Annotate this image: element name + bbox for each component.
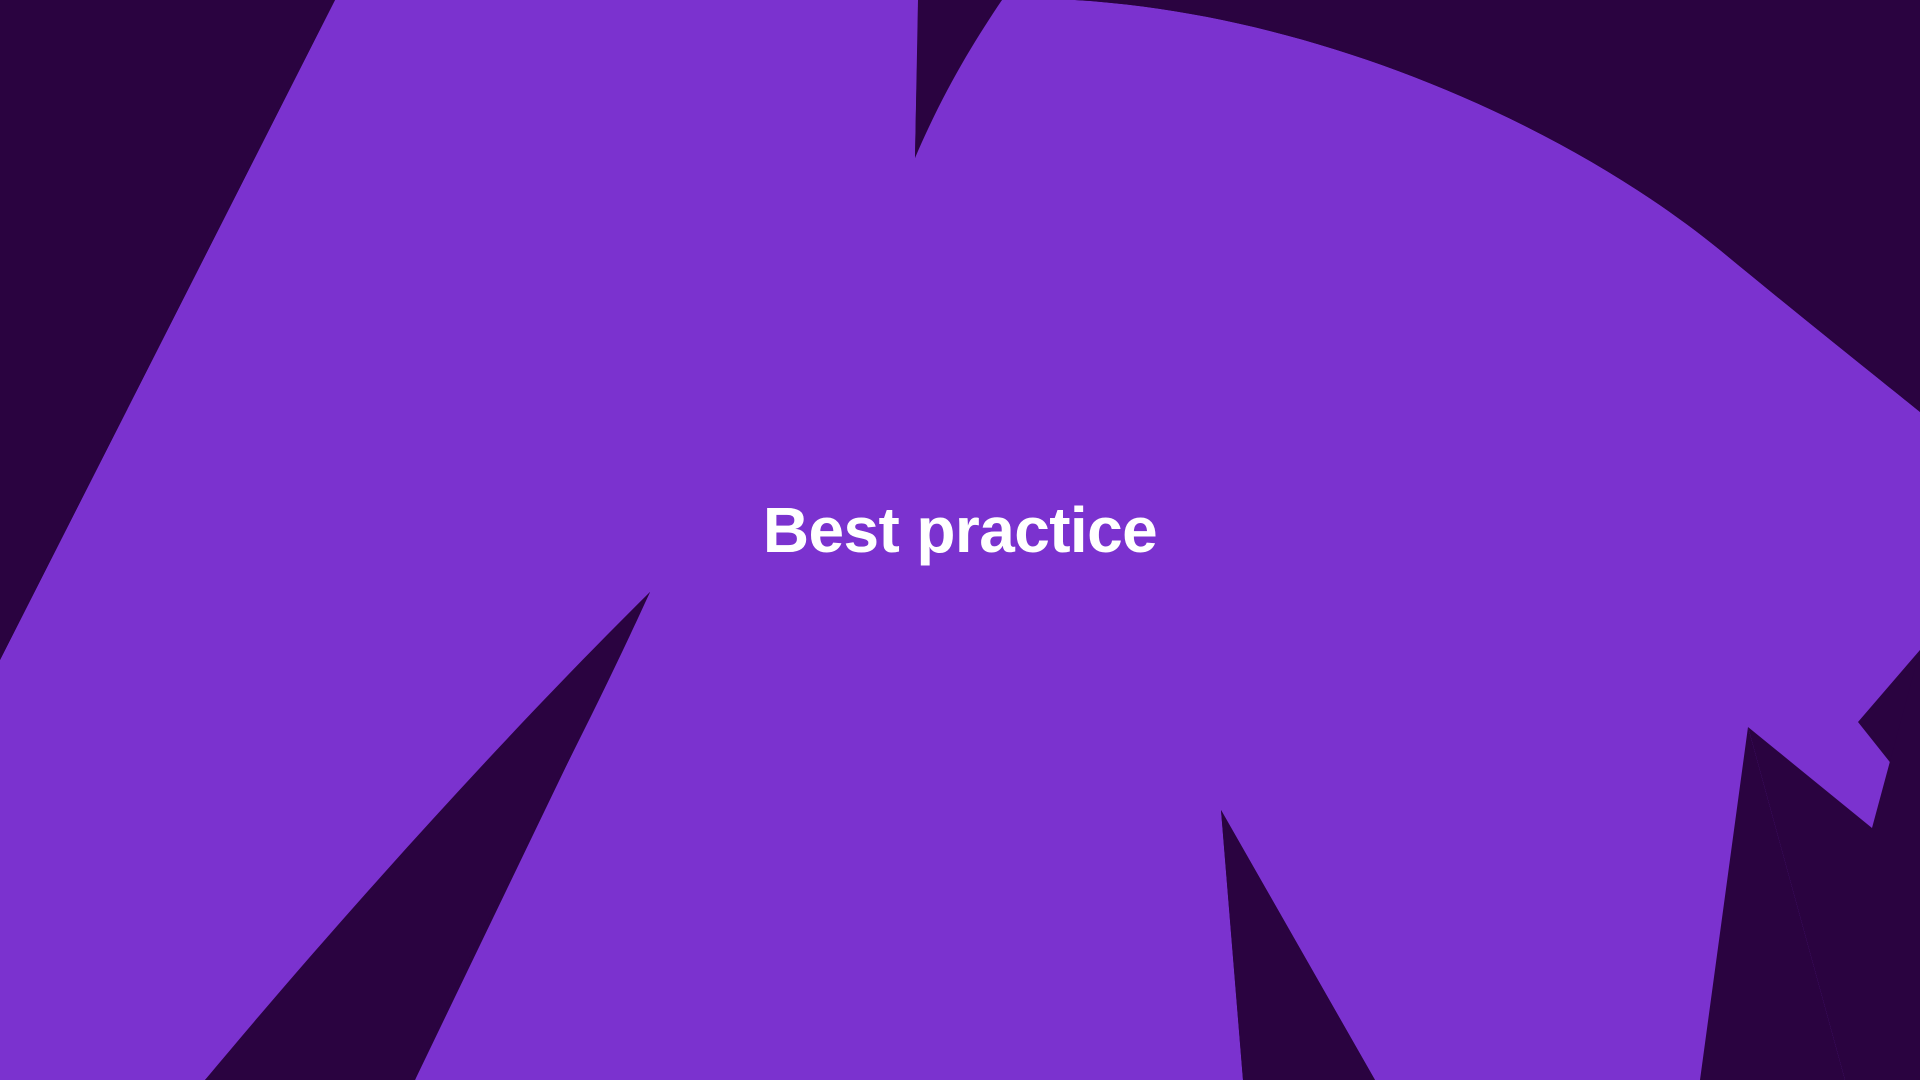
page-title: Best practice [763,497,1157,564]
title-block: Best practice [763,497,1157,564]
slide-canvas: Best practice [0,0,1920,1080]
slide-content: Best practice [0,0,1920,1080]
